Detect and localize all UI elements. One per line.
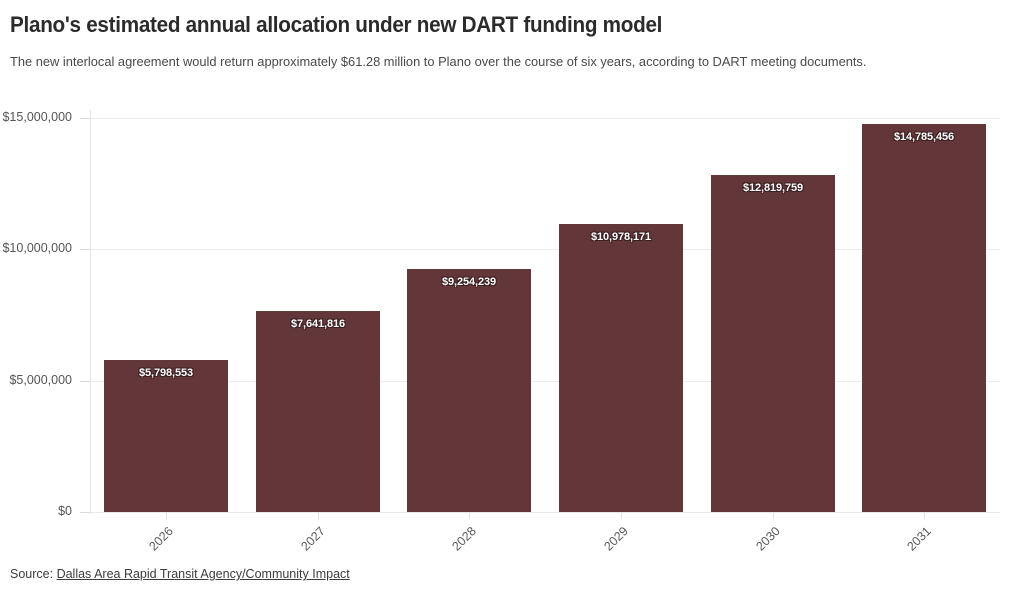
bar-2028[interactable] [407,269,531,512]
source-link[interactable]: Dallas Area Rapid Transit Agency/Communi… [57,567,350,581]
bar-value-label-2030: $12,819,759 [711,182,835,194]
chart-subtitle: The new interlocal agreement would retur… [10,54,866,69]
y-axis-tick-label: $15,000,000 [0,110,72,124]
source-note: Source: Dallas Area Rapid Transit Agency… [10,567,350,581]
y-axis-tick-label: $0 [0,504,72,518]
x-axis-tick-label-2028: 2028 [439,524,479,564]
x-axis-tick-label-2027: 2027 [288,524,328,564]
x-axis-tick-mark [621,512,622,519]
bar-2030[interactable] [711,175,835,512]
bar-value-label-2027: $7,641,816 [256,318,380,330]
plot-area: $5,798,553$7,641,816$9,254,239$10,978,17… [90,118,1000,512]
x-axis-tick-mark [166,512,167,519]
bar-2027[interactable] [256,311,380,512]
x-axis-tick-label-2026: 2026 [136,524,176,564]
y-axis-tick-mark [80,512,90,513]
page-title: Plano's estimated annual allocation unde… [10,12,662,38]
y-axis-tick-mark [80,118,90,119]
x-axis-tick-mark [924,512,925,519]
bar-value-label-2026: $5,798,553 [104,367,228,379]
chart-container: Plano's estimated annual allocation unde… [0,0,1020,593]
x-axis-tick-mark [318,512,319,519]
bar-value-label-2028: $9,254,239 [407,276,531,288]
source-prefix: Source: [10,567,57,581]
x-axis-tick-label-2030: 2030 [743,524,783,564]
y-axis-tick-mark [80,381,90,382]
y-axis-tick-label: $5,000,000 [0,373,72,387]
x-axis-tick-mark [773,512,774,519]
x-axis-tick-label-2029: 2029 [591,524,631,564]
bar-value-label-2029: $10,978,171 [559,231,683,243]
y-axis-tick-mark [80,249,90,250]
x-axis-tick-mark [469,512,470,519]
bar-2029[interactable] [559,224,683,512]
x-axis-tick-label-2031: 2031 [894,524,934,564]
bar-2031[interactable] [862,124,986,512]
x-axis-line [90,512,1000,513]
gridline [90,118,1000,119]
y-axis-tick-label: $10,000,000 [0,241,72,255]
bar-2026[interactable] [104,360,228,512]
bar-value-label-2031: $14,785,456 [862,131,986,143]
